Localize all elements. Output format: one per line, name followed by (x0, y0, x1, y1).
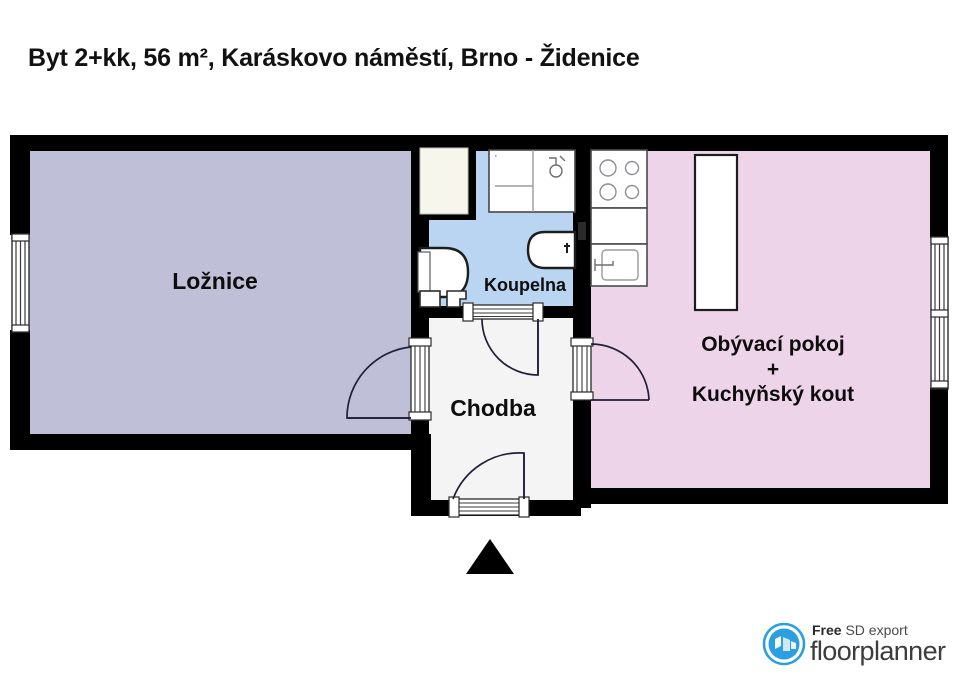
floorplanner-logo-icon (762, 622, 806, 666)
stove-fixture (591, 150, 647, 208)
wall-exterior-west-upper (10, 135, 30, 235)
room-label-living-room: Obývací pokoj + Kuchyňský kout (638, 333, 908, 407)
wall-bedroom-hallway-partition-lower (411, 418, 429, 446)
wall-hallway-living-partition-lower (573, 388, 591, 508)
wall-exterior-south-bedroom (10, 434, 430, 450)
room-label-living-line1: Obývací pokoj (701, 333, 845, 356)
room-floors (29, 148, 930, 505)
room-label-bathroom: Koupelna (455, 275, 595, 296)
wall-closet-divider (468, 148, 476, 218)
floorplanner-watermark: Free SD export floorplanner (762, 618, 952, 672)
kitchen-counter-fixture (591, 208, 647, 244)
wall-exterior-east-upper (930, 135, 948, 238)
window-bedroom-west (12, 234, 29, 332)
entrance-arrow-icon (466, 539, 514, 574)
wall-exterior-south-living (575, 488, 948, 504)
watermark-brand-name: floorplanner (810, 636, 945, 667)
toilet-cistern (418, 252, 430, 292)
bathtub-fixture (489, 150, 575, 212)
wall-exterior-east-lower (930, 388, 948, 504)
room-label-bedroom: Ložnice (103, 268, 327, 295)
floorplan-page: Byt 2+kk, 56 m², Karáskovo náměstí, Brno… (0, 0, 960, 679)
wall-exterior-west-lower (10, 330, 30, 450)
kitchen-wall-bracket (578, 222, 586, 240)
bathtub-corner-mark (495, 155, 497, 157)
room-label-hallway: Chodba (420, 395, 566, 422)
room-label-living-plus: + (638, 358, 908, 383)
window-living-east (931, 237, 948, 389)
kitchen-island-fixture (695, 155, 737, 310)
room-label-living-line2: Kuchyňský kout (692, 383, 854, 406)
wall-exterior-north (10, 135, 948, 151)
closet-floor (420, 148, 468, 214)
bathroom-small-unit-1 (420, 291, 440, 307)
